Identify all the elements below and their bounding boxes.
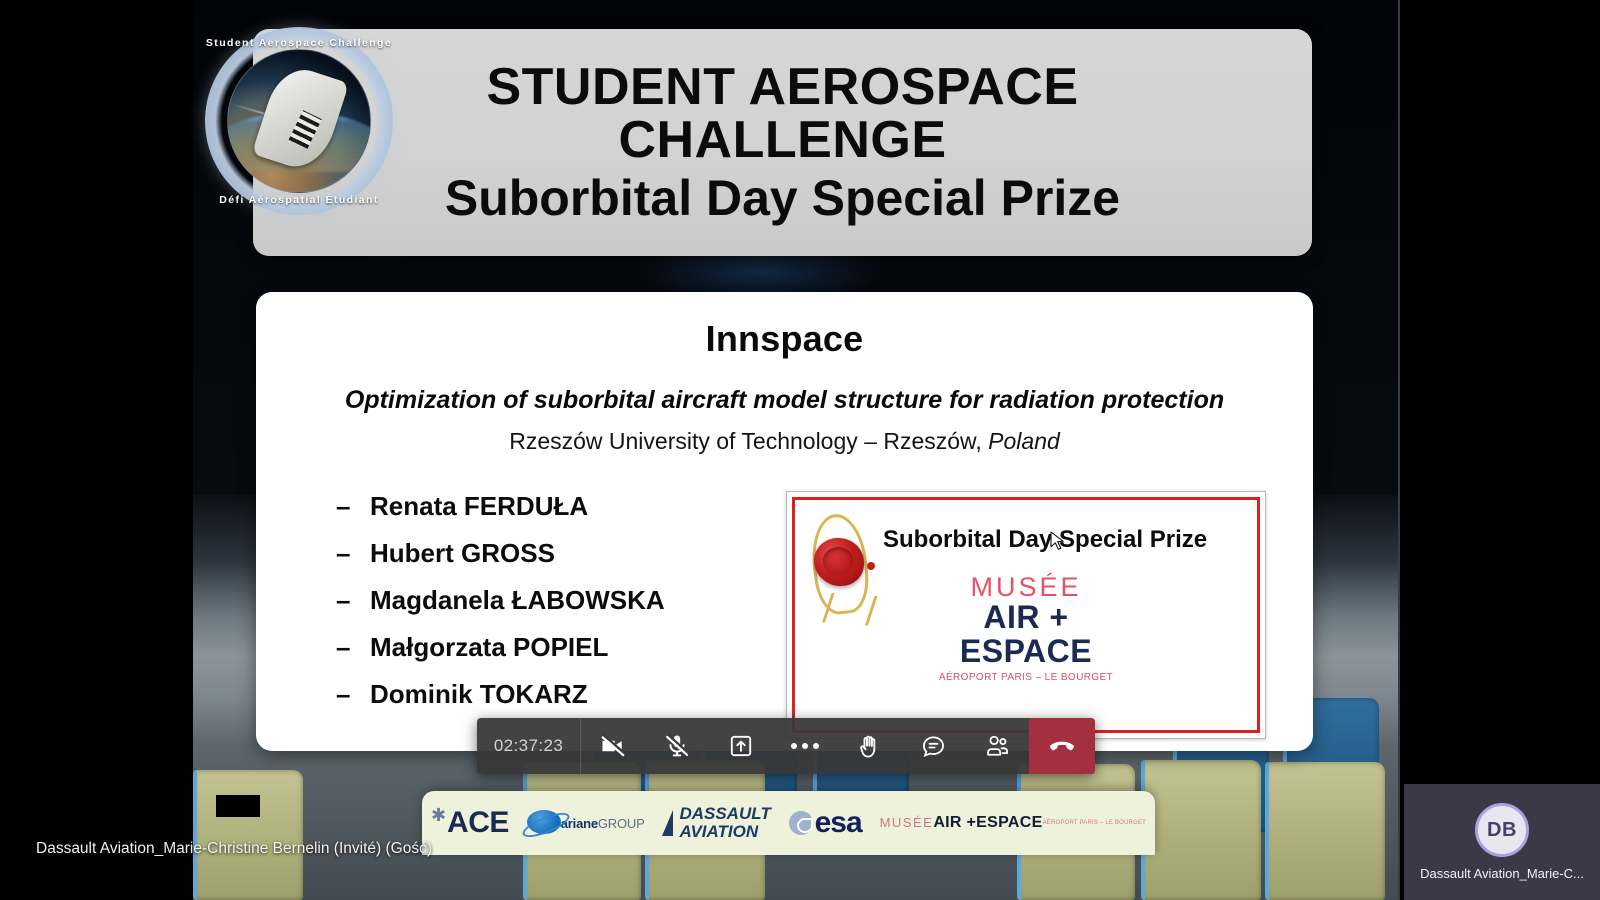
sponsor-esa-logo-icon: esa xyxy=(789,806,862,840)
sponsor-ace-logo-icon: ✱ ACE xyxy=(431,806,509,840)
team-member-name: Dominik TOKARZ xyxy=(370,679,588,710)
list-dash: – xyxy=(336,632,370,663)
dassault-line-1: DASSAULT xyxy=(679,804,770,823)
list-dash: – xyxy=(336,538,370,569)
sponsor-ace-label: ACE xyxy=(447,806,509,840)
student-aerospace-challenge-logo-icon: Student Aerospace Challenge Défi Aérospa… xyxy=(205,27,393,215)
team-member-name: Magdanela ŁABOWSKA xyxy=(370,585,665,616)
meeting-control-bar[interactable]: 02:37:23 xyxy=(477,718,1095,774)
list-item: – Dominik TOKARZ xyxy=(336,679,760,710)
banner-line-3: Suborbital Day Special Prize xyxy=(445,173,1120,224)
participant-tile-name: Dassault Aviation_Marie-C... xyxy=(1420,866,1584,881)
sponsor-mae-line-2: AIR + xyxy=(933,815,976,832)
affiliation-main: Rzeszów University of Technology – Rzesz… xyxy=(509,428,982,454)
meeting-timer: 02:37:23 xyxy=(477,718,581,774)
mouse-cursor-icon xyxy=(1050,531,1066,553)
prize-heading: Suborbital Day Special Prize xyxy=(883,526,1207,554)
list-item: – Magdanela ŁABOWSKA xyxy=(336,585,760,616)
hangup-icon[interactable] xyxy=(1029,718,1095,774)
avatar: DB xyxy=(1475,803,1529,857)
presentation-subtitle: Optimization of suborbital aircraft mode… xyxy=(290,386,1279,415)
camera-off-icon[interactable] xyxy=(581,718,645,774)
team-member-name: Hubert GROSS xyxy=(370,538,555,569)
list-dash: – xyxy=(336,585,370,616)
raise-hand-icon[interactable] xyxy=(837,718,901,774)
sponsor-mae-footer: AÉROPORT PARIS – LE BOURGET xyxy=(1043,820,1146,826)
share-screen-icon[interactable] xyxy=(709,718,773,774)
sponsor-musee-air-espace-logo-icon: MUSÉE AIR + ESPACE AÉROPORT PARIS – LE B… xyxy=(880,815,1146,832)
banner-line-2: CHALLENGE xyxy=(445,114,1120,167)
participant-tile[interactable]: DB Dassault Aviation_Marie-C... xyxy=(1404,784,1600,900)
team-member-name: Renata FERDUŁA xyxy=(370,491,588,522)
active-speaker-caption: Dassault Aviation_Marie-Christine Bernel… xyxy=(36,840,432,858)
starburst-icon: ✱ xyxy=(431,805,446,826)
screen-root: STUDENT AEROSPACE CHALLENGE Suborbital D… xyxy=(0,0,1600,900)
list-dash: – xyxy=(336,491,370,522)
mae-line-1: MUSÉE xyxy=(906,574,1146,601)
sponsor-mae-line-3: ESPACE xyxy=(976,815,1042,832)
sponsor-dassault-logo-icon: DASSAULT AVIATION xyxy=(662,805,770,841)
affiliation-country: Poland xyxy=(988,428,1060,454)
list-item: – Renata FERDUŁA xyxy=(336,491,760,522)
sponsor-esa-label: esa xyxy=(815,806,862,840)
esa-globe-icon xyxy=(789,811,813,835)
sponsor-arianegroup-logo-icon: arianeGROUP xyxy=(527,810,645,836)
rail-divider xyxy=(1398,0,1400,900)
ariane-planet-icon xyxy=(527,810,561,834)
banner-line-1: STUDENT AEROSPACE xyxy=(445,61,1120,114)
special-prize-panel: Suborbital Day Special Prize MUSÉE AIR +… xyxy=(786,491,1266,739)
dassault-line-2: AVIATION xyxy=(679,822,758,841)
sponsor-logo-strip: ✱ ACE arianeGROUP DASSAULT AVIATION esa xyxy=(422,791,1155,855)
slide-content-card: Innspace Optimization of suborbital airc… xyxy=(256,292,1313,751)
wax-seal-icon xyxy=(809,514,871,614)
mae-line-3: ESPACE xyxy=(906,635,1146,669)
mae-footer: AÉROPORT PARIS – LE BOURGET xyxy=(906,672,1146,683)
microphone-off-icon[interactable] xyxy=(645,718,709,774)
musee-air-espace-logo-icon: MUSÉE AIR + ESPACE AÉROPORT PARIS – LE B… xyxy=(906,574,1146,683)
more-options-icon[interactable] xyxy=(773,718,837,774)
list-dash: – xyxy=(336,679,370,710)
sponsor-mae-line-1: MUSÉE xyxy=(880,816,934,830)
participants-icon[interactable] xyxy=(965,718,1029,774)
list-item: – Małgorzata POPIEL xyxy=(336,632,760,663)
mae-line-2: AIR + xyxy=(906,601,1146,635)
chat-icon[interactable] xyxy=(901,718,965,774)
shared-content-stage[interactable]: STUDENT AEROSPACE CHALLENGE Suborbital D… xyxy=(0,0,1400,900)
team-member-name: Małgorzata POPIEL xyxy=(370,632,608,663)
screen-artifact xyxy=(216,795,260,817)
logo-spaceplane-art xyxy=(227,49,371,193)
presentation-title: Innspace xyxy=(290,318,1279,360)
list-item: – Hubert GROSS xyxy=(336,538,760,569)
logo-text-bottom: Défi Aérospatial Étudiant xyxy=(205,194,393,206)
ariane-label-light: GROUP xyxy=(598,816,645,831)
slide-title-banner: STUDENT AEROSPACE CHALLENGE Suborbital D… xyxy=(253,29,1312,256)
team-member-list: – Renata FERDUŁA – Hubert GROSS – Magdan… xyxy=(290,491,760,739)
dassault-mark-icon xyxy=(662,810,673,836)
participant-rail xyxy=(1400,0,1600,900)
logo-text-top: Student Aerospace Challenge xyxy=(205,37,393,49)
presentation-affiliation: Rzeszów University of Technology – Rzesz… xyxy=(290,428,1279,455)
